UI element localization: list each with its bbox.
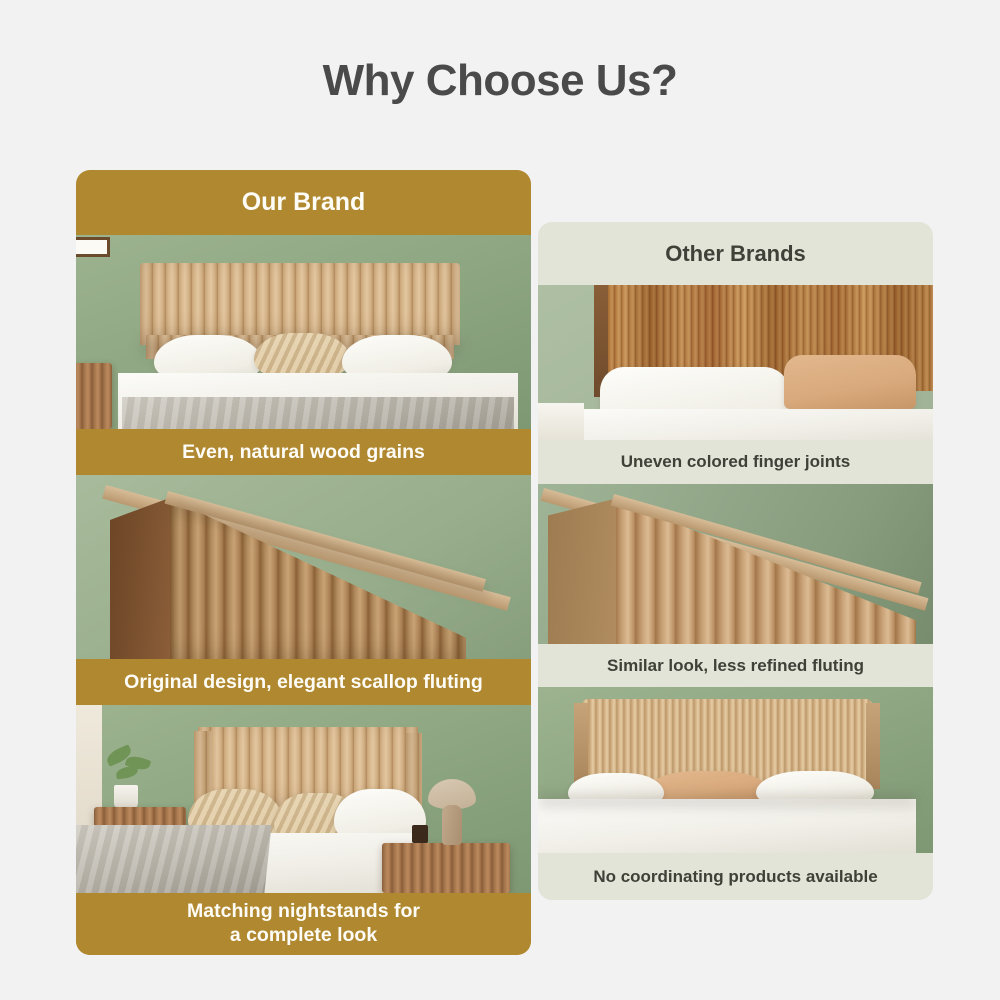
other-brands-caption-1: Uneven colored finger joints <box>538 440 933 484</box>
other-brands-header: Other Brands <box>538 222 933 285</box>
pillow-tan <box>784 355 916 409</box>
our-brand-panel: Our Brand Even, natural wood grains <box>76 170 531 955</box>
our-brand-image-1 <box>76 235 531 429</box>
other-brands-image-2 <box>538 484 933 644</box>
our-brand-header: Our Brand <box>76 170 531 235</box>
nightstand-surface <box>538 403 584 440</box>
candle-jar <box>412 825 428 843</box>
other-brands-caption-2: Similar look, less refined fluting <box>538 644 933 687</box>
our-brand-image-2 <box>76 475 531 659</box>
our-brand-caption-1: Even, natural wood grains <box>76 429 531 475</box>
pillow-knit-center <box>254 333 350 377</box>
panel-end-face <box>548 498 618 644</box>
other-brands-image-1 <box>538 285 933 440</box>
other-brands-image-3 <box>538 687 933 853</box>
other-brands-item-3: No coordinating products available <box>538 687 933 900</box>
our-brand-item-2: Original design, elegant scallop fluting <box>76 475 531 705</box>
our-brand-item-1: Even, natural wood grains <box>76 235 531 475</box>
plant-pot <box>114 785 138 809</box>
bed-throw-blanket <box>122 397 514 429</box>
our-brand-caption-3: Matching nightstands for a complete look <box>76 893 531 955</box>
other-brands-item-2: Similar look, less refined fluting <box>538 484 933 687</box>
bed-shadow <box>538 795 916 807</box>
lamp-base <box>442 805 462 845</box>
caption-line-2: a complete look <box>230 924 377 948</box>
comparison-infographic: Why Choose Us? Our Brand Even, natural w… <box>0 0 1000 1000</box>
wall-art-frame <box>76 237 110 257</box>
our-brand-image-3 <box>76 705 531 893</box>
other-brands-item-1: Uneven colored finger joints <box>538 285 933 484</box>
nightstand-right <box>382 843 510 893</box>
headboard-right-wing <box>866 703 880 789</box>
other-brands-panel: Other Brands Uneven colored finger joint… <box>538 222 933 900</box>
bed-mattress <box>538 799 916 853</box>
other-brands-caption-3: No coordinating products available <box>538 853 933 900</box>
caption-line-1: Matching nightstands for <box>187 900 420 924</box>
page-title: Why Choose Us? <box>0 56 1000 106</box>
panel-dark-end-face <box>110 497 172 659</box>
our-brand-item-3: Matching nightstands for a complete look <box>76 705 531 955</box>
bed-mattress <box>574 409 933 440</box>
bed-throw-blanket <box>76 825 272 893</box>
nightstand-left <box>76 363 112 429</box>
our-brand-caption-2: Original design, elegant scallop fluting <box>76 659 531 705</box>
